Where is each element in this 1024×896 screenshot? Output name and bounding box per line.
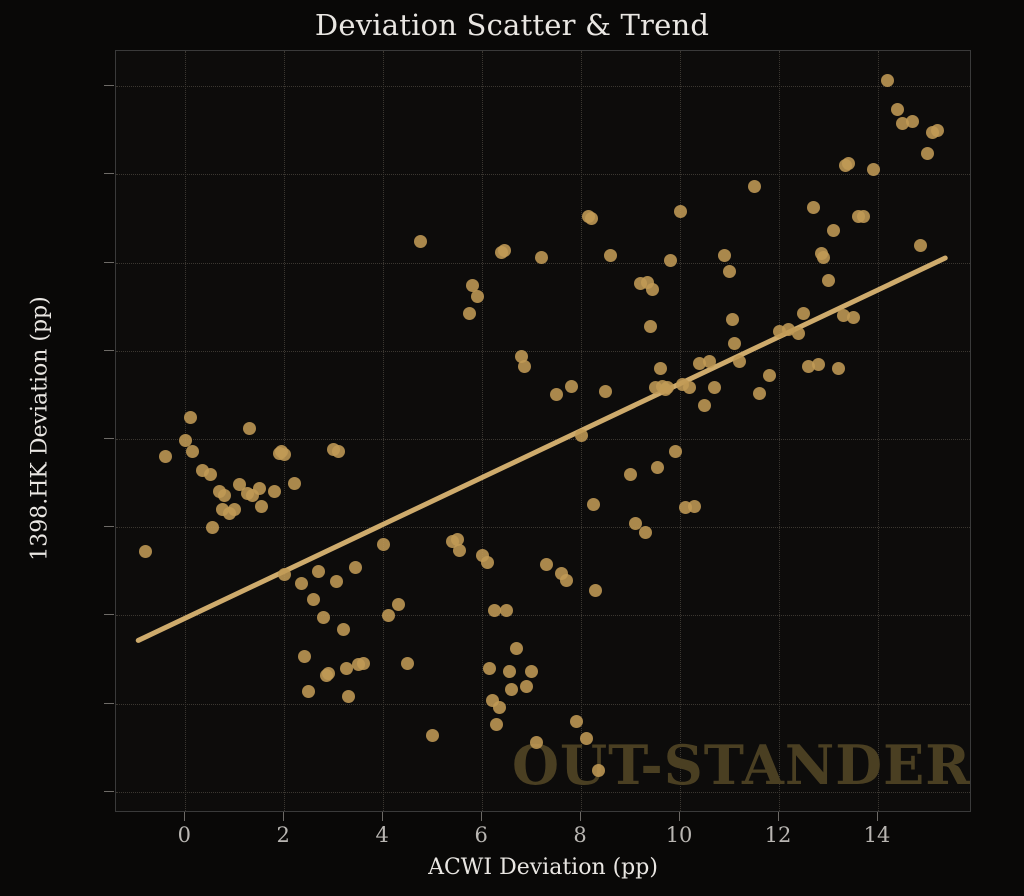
gridline-vertical	[185, 51, 186, 811]
scatter-point	[580, 732, 593, 745]
scatter-point	[520, 680, 533, 693]
gridline-horizontal	[116, 615, 970, 616]
gridline-vertical	[779, 51, 780, 811]
scatter-point	[481, 556, 494, 569]
scatter-point	[733, 355, 746, 368]
scatter-point	[505, 683, 518, 696]
y-axis-tick-mark	[104, 85, 114, 86]
scatter-point	[832, 362, 845, 375]
scatter-point	[317, 611, 330, 624]
scatter-point	[471, 290, 484, 303]
scatter-point	[483, 662, 496, 675]
x-axis-tick-mark	[877, 812, 878, 821]
scatter-point	[589, 584, 602, 597]
scatter-point	[206, 521, 219, 534]
scatter-point	[268, 485, 281, 498]
scatter-point	[426, 729, 439, 742]
scatter-point	[332, 445, 345, 458]
scatter-point	[278, 568, 291, 581]
gridline-horizontal	[116, 86, 970, 87]
x-axis-tick-mark	[580, 812, 581, 821]
scatter-point	[255, 500, 268, 513]
x-axis-title: ACWI Deviation (pp)	[115, 855, 971, 880]
scatter-point	[288, 477, 301, 490]
scatter-point	[218, 489, 231, 502]
x-axis-tick-mark	[184, 812, 185, 821]
y-axis-tick-mark	[104, 703, 114, 704]
scatter-point	[228, 503, 241, 516]
scatter-point	[530, 736, 543, 749]
scatter-point	[587, 498, 600, 511]
scatter-point	[728, 337, 741, 350]
scatter-point	[159, 450, 172, 463]
gridline-horizontal	[116, 439, 970, 440]
scatter-point	[881, 74, 894, 87]
scatter-point	[914, 239, 927, 252]
scatter-point	[307, 593, 320, 606]
scatter-point	[322, 667, 335, 680]
x-axis-tick-mark	[481, 812, 482, 821]
scatter-point	[349, 561, 362, 574]
x-axis-tick-label: 10	[666, 823, 693, 847]
x-axis-tick-label: 0	[178, 823, 191, 847]
scatter-point	[718, 249, 731, 262]
scatter-point	[857, 210, 870, 223]
scatter-point	[535, 251, 548, 264]
x-axis-tick-label: 8	[573, 823, 586, 847]
plot-area[interactable]: OUT-STANDER	[115, 50, 971, 812]
scatter-point	[585, 212, 598, 225]
scatter-point	[651, 461, 664, 474]
x-axis-tick-label: 6	[474, 823, 487, 847]
scatter-point	[921, 147, 934, 160]
chart-figure: Deviation Scatter & Trend 1398.HK Deviat…	[0, 0, 1024, 896]
gridline-horizontal	[116, 527, 970, 528]
scatter-point	[186, 445, 199, 458]
scatter-point	[525, 665, 538, 678]
y-axis-tick-mark	[104, 350, 114, 351]
scatter-point	[812, 358, 825, 371]
scatter-point	[295, 577, 308, 590]
gridline-vertical	[680, 51, 681, 811]
scatter-point	[342, 690, 355, 703]
gridline-vertical	[383, 51, 384, 811]
scatter-point	[931, 124, 944, 137]
gridline-horizontal	[116, 351, 970, 352]
x-axis-tick-label: 2	[277, 823, 290, 847]
scatter-point	[807, 201, 820, 214]
scatter-point	[906, 115, 919, 128]
scatter-point	[646, 283, 659, 296]
scatter-point	[243, 422, 256, 435]
scatter-point	[797, 307, 810, 320]
x-axis-tick-label: 14	[864, 823, 891, 847]
gridline-vertical	[284, 51, 285, 811]
x-axis-tick-label: 4	[376, 823, 389, 847]
y-axis-tick-mark	[104, 262, 114, 263]
scatter-point	[674, 205, 687, 218]
scatter-point	[488, 604, 501, 617]
scatter-point	[792, 327, 805, 340]
scatter-point	[302, 685, 315, 698]
chart-title: Deviation Scatter & Trend	[0, 8, 1024, 42]
gridline-horizontal	[116, 174, 970, 175]
scatter-point	[698, 399, 711, 412]
scatter-point	[500, 604, 513, 617]
scatter-point	[726, 313, 739, 326]
scatter-point	[550, 388, 563, 401]
scatter-point	[490, 718, 503, 731]
scatter-point	[401, 657, 414, 670]
scatter-point	[204, 468, 217, 481]
scatter-point	[867, 163, 880, 176]
scatter-point	[575, 429, 588, 442]
trend-line	[135, 255, 949, 644]
scatter-point	[298, 650, 311, 663]
x-axis-tick-mark	[679, 812, 680, 821]
scatter-point	[891, 103, 904, 116]
scatter-point	[463, 307, 476, 320]
scatter-point	[493, 701, 506, 714]
scatter-point	[654, 362, 667, 375]
scatter-point	[540, 558, 553, 571]
scatter-point	[604, 249, 617, 262]
scatter-point	[392, 598, 405, 611]
scatter-point	[763, 369, 776, 382]
x-axis-tick-label: 12	[765, 823, 792, 847]
scatter-point	[278, 448, 291, 461]
scatter-point	[340, 662, 353, 675]
scatter-point	[817, 251, 830, 264]
scatter-point	[337, 623, 350, 636]
scatter-point	[827, 224, 840, 237]
scatter-point	[748, 180, 761, 193]
scatter-point	[592, 764, 605, 777]
x-axis-tick-mark	[778, 812, 779, 821]
scatter-point	[842, 157, 855, 170]
y-axis-tick-mark	[104, 791, 114, 792]
scatter-point	[377, 538, 390, 551]
y-axis-tick-mark	[104, 438, 114, 439]
y-axis-title: 1398.HK Deviation (pp)	[28, 279, 53, 579]
x-axis-tick-mark	[382, 812, 383, 821]
gridline-horizontal	[116, 792, 970, 793]
scatter-point	[453, 544, 466, 557]
y-axis-tick-mark	[104, 173, 114, 174]
scatter-point	[822, 274, 835, 287]
scatter-point	[382, 609, 395, 622]
scatter-point	[624, 468, 637, 481]
scatter-point	[139, 545, 152, 558]
scatter-point	[498, 244, 511, 257]
x-axis-tick-mark	[283, 812, 284, 821]
y-axis-tick-mark	[104, 526, 114, 527]
scatter-point	[330, 575, 343, 588]
scatter-point	[708, 381, 721, 394]
scatter-point	[503, 665, 516, 678]
scatter-point	[184, 411, 197, 424]
scatter-point	[753, 387, 766, 400]
gridline-vertical	[482, 51, 483, 811]
scatter-point	[518, 360, 531, 373]
scatter-point	[688, 500, 701, 513]
scatter-point	[683, 381, 696, 394]
scatter-point	[644, 320, 657, 333]
scatter-point	[414, 235, 427, 248]
scatter-point	[570, 715, 583, 728]
scatter-point	[599, 385, 612, 398]
scatter-point	[357, 657, 370, 670]
scatter-point	[664, 254, 677, 267]
y-axis-tick-mark	[104, 614, 114, 615]
scatter-point	[560, 574, 573, 587]
scatter-point	[639, 526, 652, 539]
scatter-point	[510, 642, 523, 655]
scatter-point	[669, 445, 682, 458]
scatter-point	[312, 565, 325, 578]
scatter-point	[253, 482, 266, 495]
scatter-point	[847, 311, 860, 324]
gridline-horizontal	[116, 704, 970, 705]
scatter-point	[723, 265, 736, 278]
scatter-point	[565, 380, 578, 393]
scatter-point	[661, 381, 674, 394]
